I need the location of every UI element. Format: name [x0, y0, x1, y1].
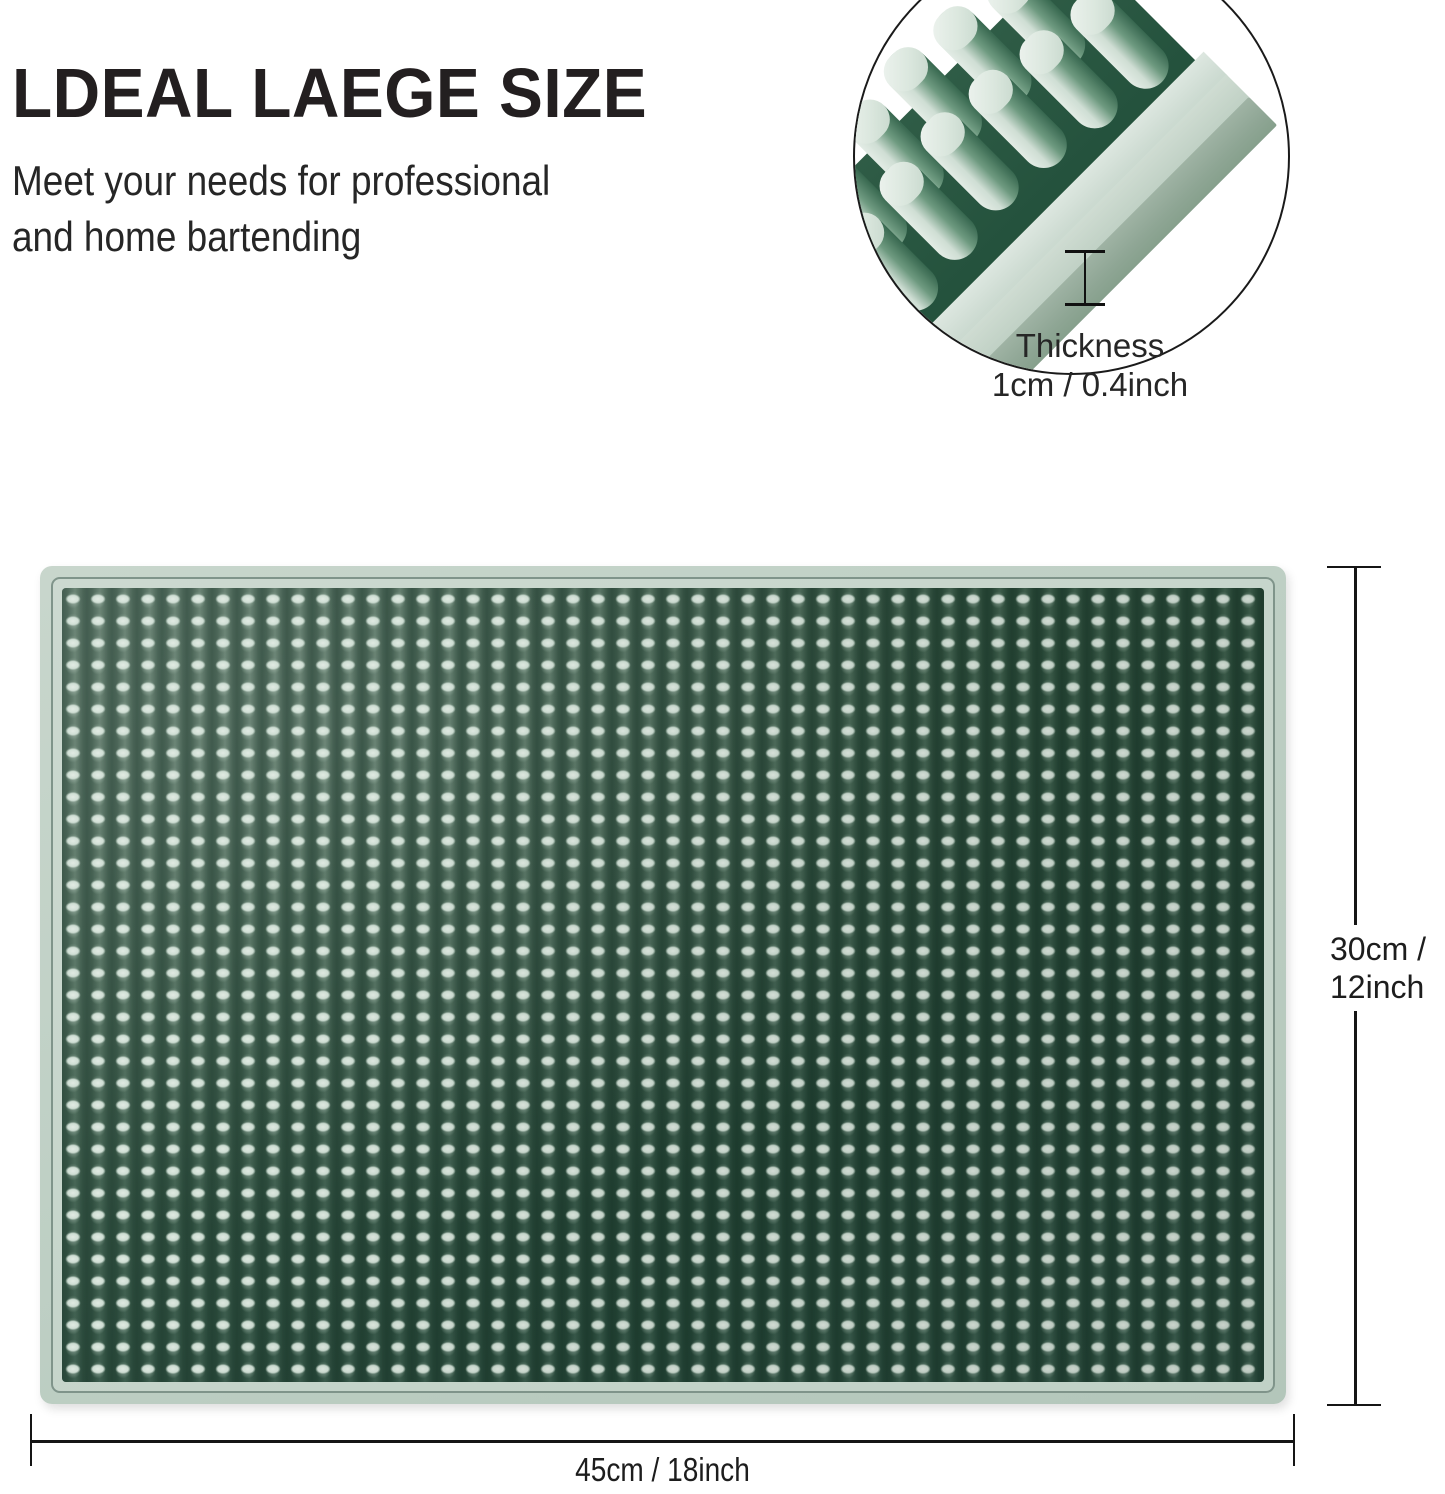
zoom-detail-circle	[853, 0, 1290, 375]
height-dimension-label: 30cm / 12inch	[1330, 925, 1445, 1011]
width-dimension-line	[30, 1440, 1295, 1443]
subtitle: Meet your needs for professional and hom…	[12, 153, 716, 265]
height-dimension-line-2: 12inch	[1330, 968, 1445, 1006]
bar-mat-product-image	[40, 566, 1286, 1404]
mat-surface-field	[62, 588, 1264, 1382]
page-title: LDEAL LAEGE SIZE	[12, 55, 764, 131]
mat-border-frame	[51, 577, 1275, 1393]
mat-corner-3d-illustration	[853, 0, 1290, 375]
width-dimension-label: 45cm / 18inch	[125, 1450, 1200, 1490]
thickness-dimension-icon	[1084, 251, 1086, 305]
height-dimension-cap-bottom	[1327, 1404, 1381, 1406]
headline-block: LDEAL LAEGE SIZE Meet your needs for pro…	[12, 55, 812, 265]
thickness-value: 1cm / 0.4inch	[900, 365, 1280, 404]
height-dimension-line-1: 30cm /	[1330, 930, 1445, 968]
thickness-label: Thickness 1cm / 0.4inch	[900, 326, 1280, 404]
product-infographic: LDEAL LAEGE SIZE Meet your needs for pro…	[0, 0, 1445, 1494]
subtitle-line-2: and home bartending	[12, 209, 716, 265]
width-dimension-cap-left	[30, 1414, 32, 1466]
thickness-title: Thickness	[900, 326, 1280, 365]
mat-nub-grid	[62, 588, 1264, 1382]
subtitle-line-1: Meet your needs for professional	[12, 153, 716, 209]
width-dimension-cap-right	[1293, 1414, 1295, 1466]
height-dimension-cap-top	[1327, 566, 1381, 568]
